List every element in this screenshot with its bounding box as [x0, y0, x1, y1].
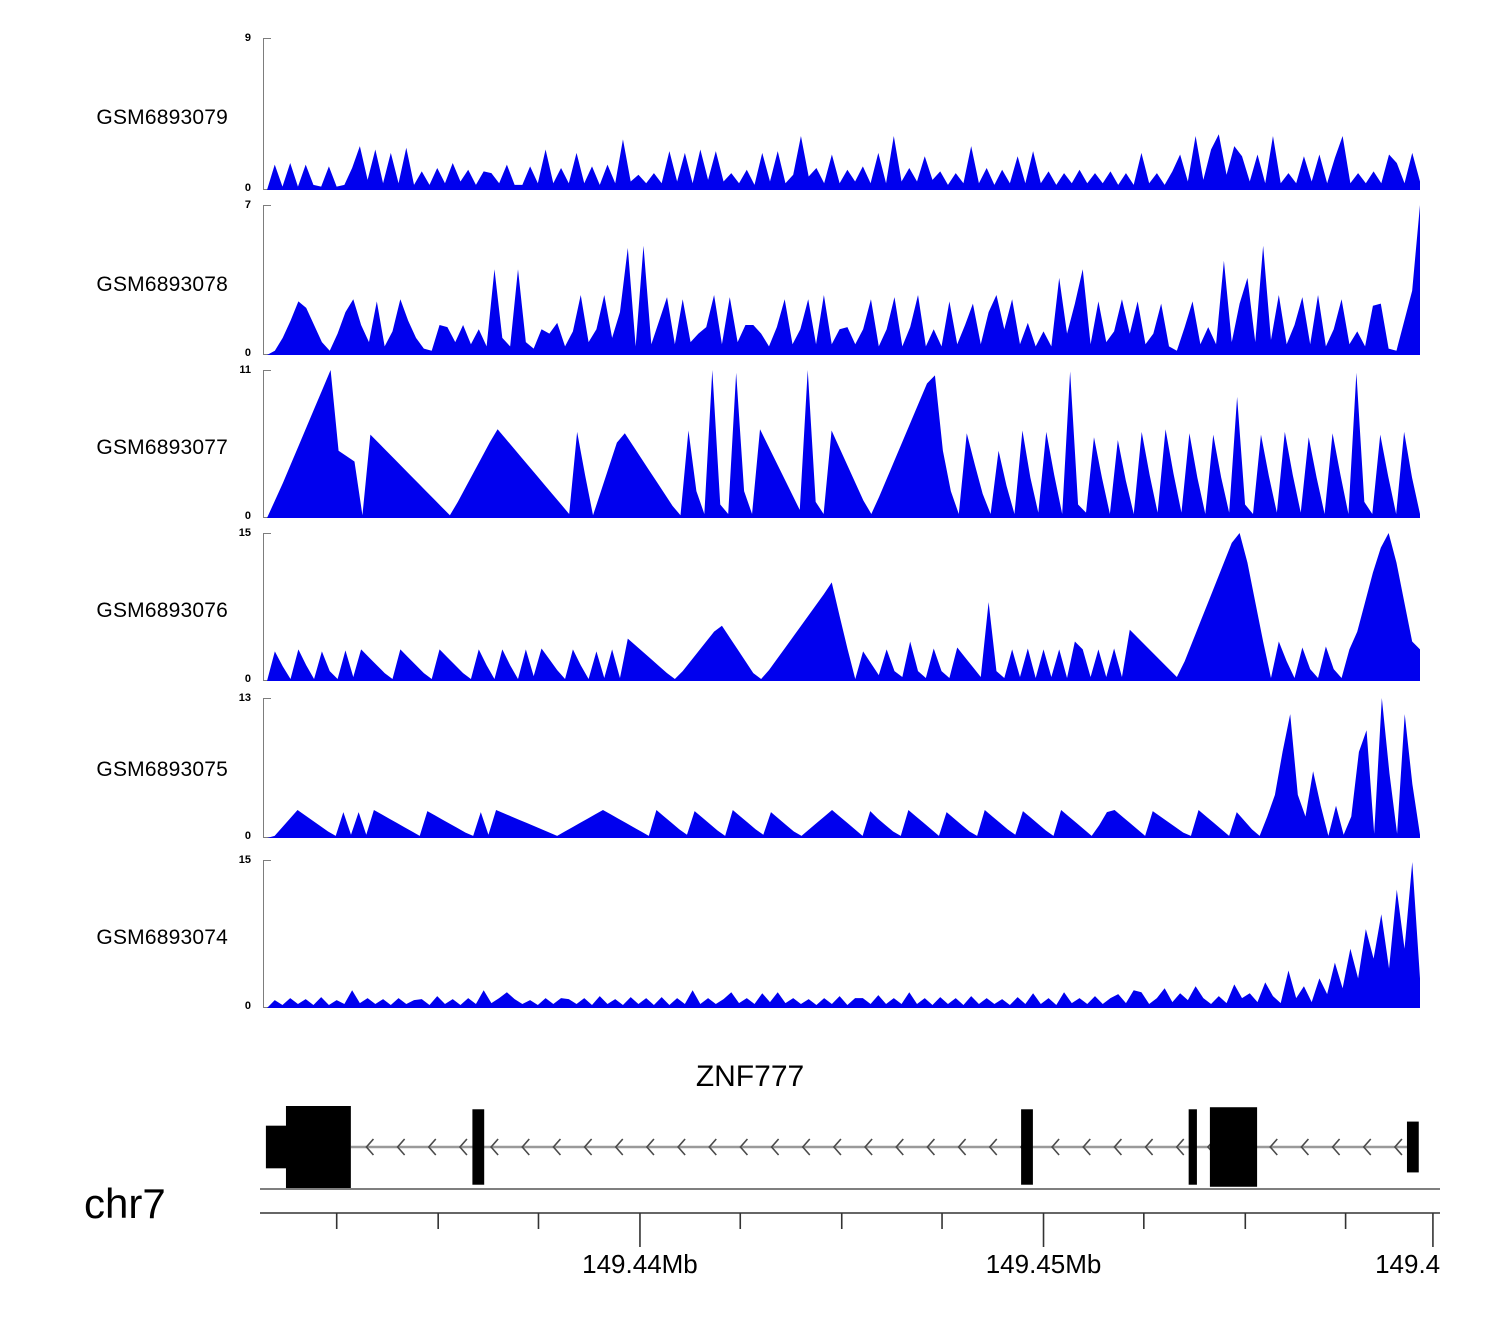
- y-axis: 110: [233, 370, 267, 518]
- axis-tick-label: 149.44Mb: [582, 1249, 698, 1279]
- y-axis-max-label: 11: [239, 365, 251, 376]
- y-axis: 70: [233, 205, 267, 355]
- coverage-polygon: [267, 862, 1420, 1008]
- y-axis: 150: [233, 860, 267, 1008]
- y-axis-max-label: 9: [245, 33, 251, 44]
- y-axis-min-label: 0: [245, 511, 251, 522]
- y-axis: 150: [233, 533, 267, 681]
- gene-name-label: ZNF777: [0, 1060, 1500, 1094]
- track-label-GSM6893079: GSM6893079: [96, 106, 228, 130]
- y-axis: 90: [233, 38, 267, 190]
- axis-tick-label: 149.45Mb: [986, 1249, 1102, 1279]
- coverage-area-plot[interactable]: [267, 860, 1420, 1008]
- coverage-polygon: [267, 205, 1420, 355]
- track-label-GSM6893074: GSM6893074: [96, 926, 228, 950]
- y-axis-min-label: 0: [245, 183, 251, 194]
- coverage-track: GSM6893075130: [0, 698, 1500, 838]
- exon-box-utr-step-left[interactable]: [266, 1126, 287, 1169]
- y-axis-max-label: 15: [239, 528, 251, 539]
- coverage-area-plot[interactable]: [267, 698, 1420, 838]
- exon-box-exon-5-wide[interactable]: [1210, 1107, 1257, 1187]
- gene-model-panel: ZNF777: [0, 1055, 1500, 1205]
- coverage-area-plot[interactable]: [267, 370, 1420, 518]
- y-axis-max-label: 13: [239, 693, 251, 704]
- coverage-polygon: [267, 533, 1420, 681]
- coverage-track: GSM6893074150: [0, 860, 1500, 1008]
- coverage-track: GSM6893076150: [0, 533, 1500, 681]
- coverage-area-plot[interactable]: [267, 533, 1420, 681]
- y-axis: 130: [233, 698, 267, 838]
- y-axis-min-label: 0: [245, 348, 251, 359]
- coverage-area-plot[interactable]: [267, 205, 1420, 355]
- coverage-track: GSM6893077110: [0, 370, 1500, 518]
- coverage-track: GSM689307990: [0, 38, 1500, 190]
- chromosome-label: chr7: [84, 1180, 166, 1228]
- coverage-polygon: [267, 698, 1420, 838]
- coverage-area-plot[interactable]: [267, 38, 1420, 190]
- y-axis-min-label: 0: [245, 674, 251, 685]
- track-label-GSM6893075: GSM6893075: [96, 758, 228, 782]
- coverage-track: GSM689307870: [0, 205, 1500, 355]
- exon-box-exon-3[interactable]: [1021, 1109, 1033, 1184]
- coverage-polygon: [267, 134, 1420, 190]
- y-axis-max-label: 7: [245, 200, 251, 211]
- genomic-axis[interactable]: 149.44Mb149.45Mb149.46Mb: [260, 1185, 1440, 1295]
- track-label-GSM6893078: GSM6893078: [96, 273, 228, 297]
- coverage-polygon: [267, 370, 1420, 518]
- y-axis-max-label: 15: [239, 855, 251, 866]
- exon-box-exon-2[interactable]: [472, 1109, 484, 1184]
- exon-box-exon-1-large[interactable]: [286, 1106, 351, 1188]
- y-axis-min-label: 0: [245, 1001, 251, 1012]
- genome-browser-figure: GSM689307990GSM689307870GSM6893077110GSM…: [0, 0, 1500, 1320]
- exon-box-exon-4[interactable]: [1189, 1109, 1197, 1184]
- axis-tick-label: 149.46Mb: [1375, 1249, 1440, 1279]
- exon-box-exon-6-terminal[interactable]: [1407, 1122, 1419, 1173]
- track-label-GSM6893077: GSM6893077: [96, 436, 228, 460]
- y-axis-min-label: 0: [245, 831, 251, 842]
- track-label-GSM6893076: GSM6893076: [96, 599, 228, 623]
